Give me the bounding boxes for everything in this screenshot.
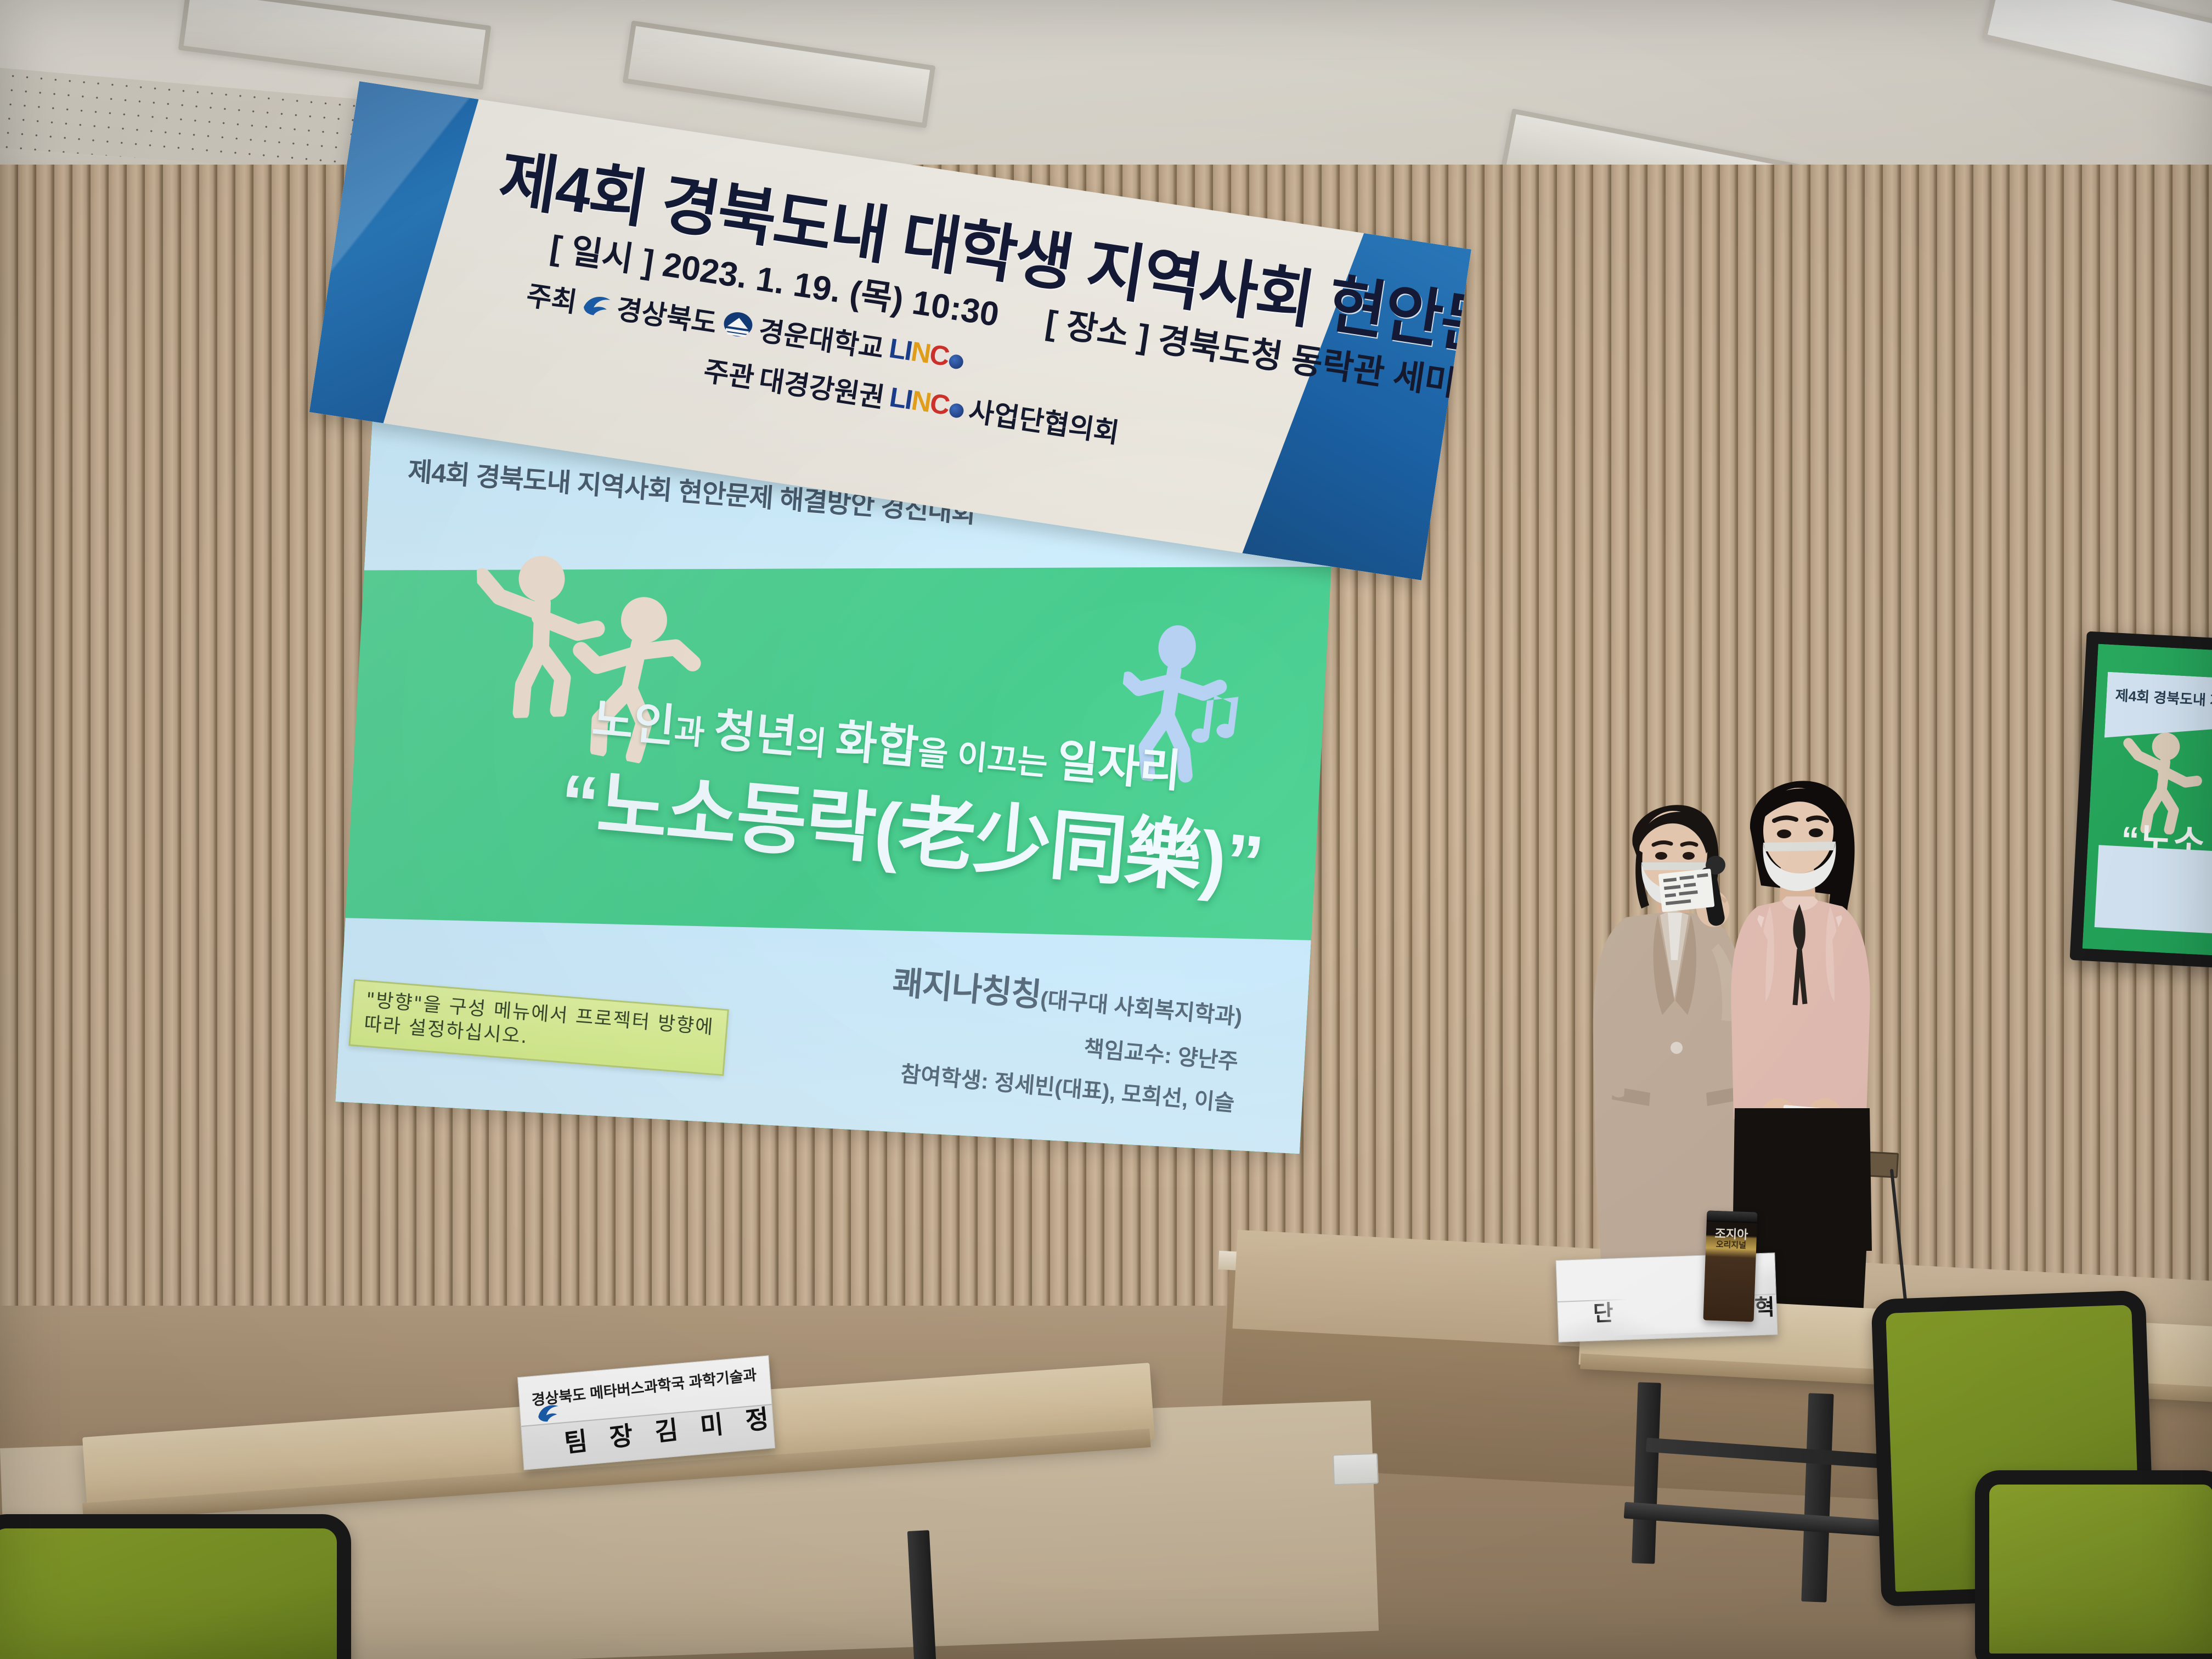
chair-backrest [0,1514,351,1659]
can-lid [1707,1210,1758,1223]
ceiling-light [178,0,492,90]
chair-foreground-left[interactable] [0,1514,351,1659]
slide-subtitle-particle-1: 과 [673,712,715,752]
chair-right-lower[interactable] [1975,1470,2212,1659]
conference-room-photo: 제4회 경북도내 지역사회 현안문제 해결방안 경진대회 [0,0,2212,1659]
ceiling-light [1982,0,2212,103]
monitor-screen: 제4회 경북도내 지역사회 현 “노소 [2083,644,2212,956]
chair-backrest [1975,1470,2212,1659]
banner-organizer-label: 주관 [701,349,757,396]
wall-monitor: 제4회 경북도내 지역사회 현 “노소 [2070,631,2212,969]
gyeongbuk-emblem-icon [535,1402,561,1424]
banner-host-label: 주최 [524,273,580,320]
monitor-bottom-band [2095,845,2212,935]
coffee-can: 조지아 오리지널 [1703,1210,1758,1322]
coffee-can-sub: 오리지널 [1706,1238,1757,1251]
linc-plus-logo: LINC [887,332,966,375]
slide-team-dept: (대구대 사회복지학과) [1040,988,1243,1030]
slide-team-name: 쾌지나칭칭 [891,964,1042,1014]
gyeongbuk-emblem-icon [580,290,613,318]
ceiling-light [623,20,936,128]
slide-subtitle-particle-2: 의 [794,723,837,763]
floor-outlet-plate[interactable] [1333,1453,1379,1486]
nameplate-front-name: 팀 장 김 미 정 [562,1398,775,1460]
linc-plus-logo: LINC [888,381,967,424]
kyungwoon-univ-emblem-icon [720,309,756,341]
